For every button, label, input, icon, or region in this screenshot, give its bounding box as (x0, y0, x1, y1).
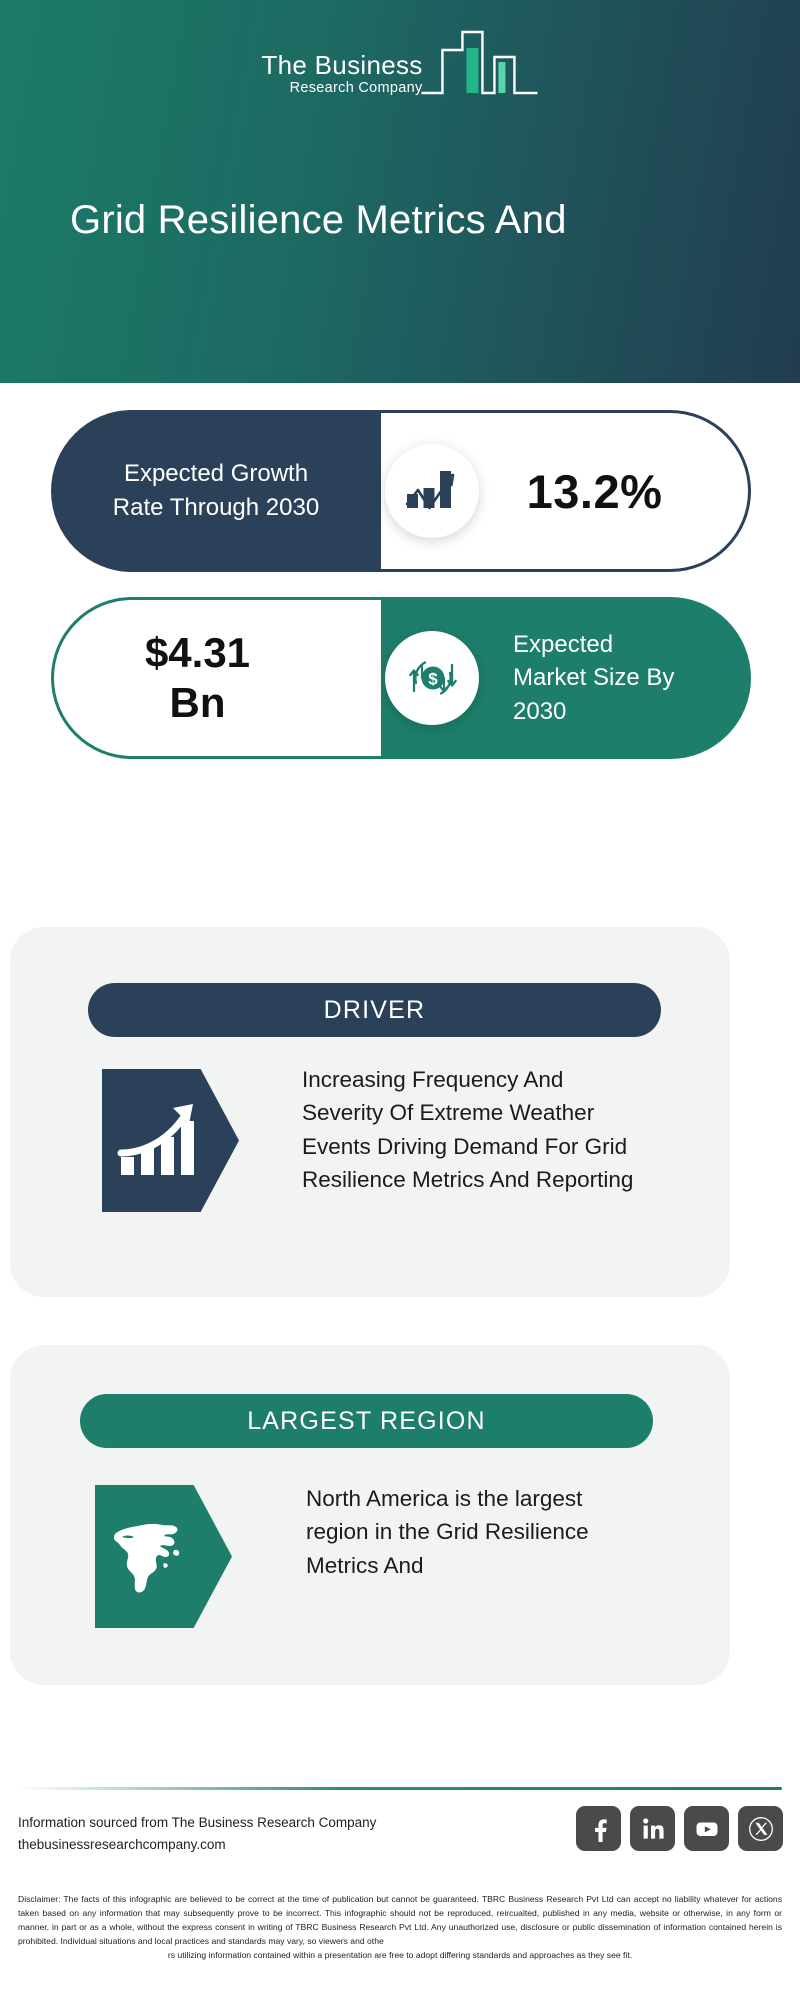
growth-rate-label: Expected Growth Rate Through 2030 (96, 457, 336, 524)
driver-badge: DRIVER (88, 983, 661, 1037)
disclaimer-text: Disclaimer: The facts of this infographi… (18, 1893, 782, 1963)
social-links (576, 1806, 783, 1851)
source-attribution: Information sourced from The Business Re… (18, 1812, 488, 1856)
market-size-value: $4.31 Bn (118, 628, 318, 727)
growth-chart-arrow-icon (404, 464, 460, 518)
market-size-value-pill: $4.31 Bn (51, 597, 381, 759)
youtube-icon[interactable] (684, 1806, 729, 1851)
logo-text-block: The Business Research Company (261, 52, 422, 104)
rising-bars-arrow-icon (117, 1099, 203, 1183)
linkedin-glyph (640, 1816, 666, 1842)
logo-line-2: Research Company (290, 79, 423, 97)
disclaimer-main: Disclaimer: The facts of this infographi… (18, 1894, 782, 1946)
growth-rate-value: 13.2% (467, 464, 663, 519)
x-glyph (748, 1816, 774, 1842)
source-line-2[interactable]: thebusinessresearchcompany.com (18, 1834, 488, 1856)
disclaimer-last-line: rs utilizing information contained withi… (18, 1949, 782, 1963)
growth-rate-icon-badge (385, 444, 479, 538)
facebook-icon[interactable] (576, 1806, 621, 1851)
svg-text:$: $ (428, 670, 438, 689)
company-logo: The Business Research Company (261, 22, 538, 104)
driver-icon-shape (102, 1069, 239, 1212)
header-banner: The Business Research Company Grid Resil… (0, 0, 800, 383)
dollar-circulation-icon: $ (403, 649, 461, 707)
market-size-card: $4.31 Bn Expected Market Size By 2030 $ (51, 597, 751, 759)
largest-region-badge: LARGEST REGION (80, 1394, 653, 1448)
logo-line-1: The Business (261, 52, 422, 79)
largest-region-panel: LARGEST REGION North America is the larg… (10, 1345, 730, 1685)
growth-rate-label-pill: Expected Growth Rate Through 2030 (51, 410, 381, 572)
page-title: Grid Resilience Metrics And (70, 196, 750, 245)
market-size-icon-badge: $ (385, 631, 479, 725)
north-america-map-icon (110, 1511, 198, 1603)
driver-panel: DRIVER Increasing Frequency And Severity… (10, 927, 730, 1297)
growth-rate-card: Expected Growth Rate Through 2030 13.2% (51, 410, 751, 572)
x-twitter-icon[interactable] (738, 1806, 783, 1851)
linkedin-icon[interactable] (630, 1806, 675, 1851)
footer-divider (18, 1787, 782, 1790)
largest-region-description: North America is the largest region in t… (306, 1482, 636, 1582)
driver-description: Increasing Frequency And Severity Of Ext… (302, 1063, 638, 1196)
bar-chart-logo-mark (421, 22, 539, 104)
youtube-glyph (694, 1816, 720, 1842)
market-size-label: Expected Market Size By 2030 (451, 628, 681, 729)
facebook-glyph (586, 1816, 612, 1842)
largest-region-icon-shape (95, 1485, 232, 1628)
source-line-1: Information sourced from The Business Re… (18, 1812, 488, 1834)
